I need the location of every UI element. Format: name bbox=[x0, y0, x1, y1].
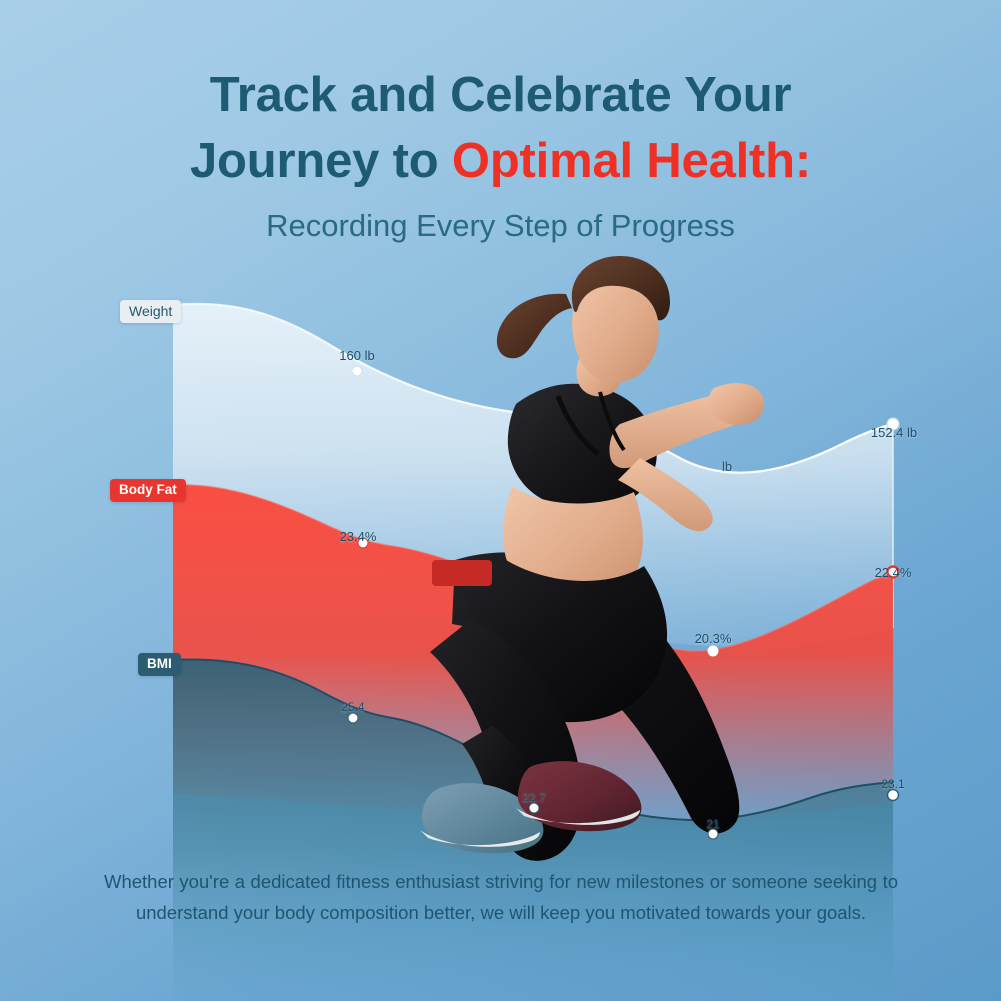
chart-svg bbox=[0, 0, 1001, 1001]
infographic-canvas: Weight Body Fat BMI 160 lb lb 152.4 lb 2… bbox=[0, 0, 1001, 1001]
page-subtitle: Recording Every Step of Progress bbox=[0, 205, 1001, 247]
body-copy-paragraph: Whether you're a dedicated fitness enthu… bbox=[104, 866, 898, 928]
progress-area-chart bbox=[0, 0, 1001, 1001]
body-copy: Whether you're a dedicated fitness enthu… bbox=[104, 866, 898, 928]
